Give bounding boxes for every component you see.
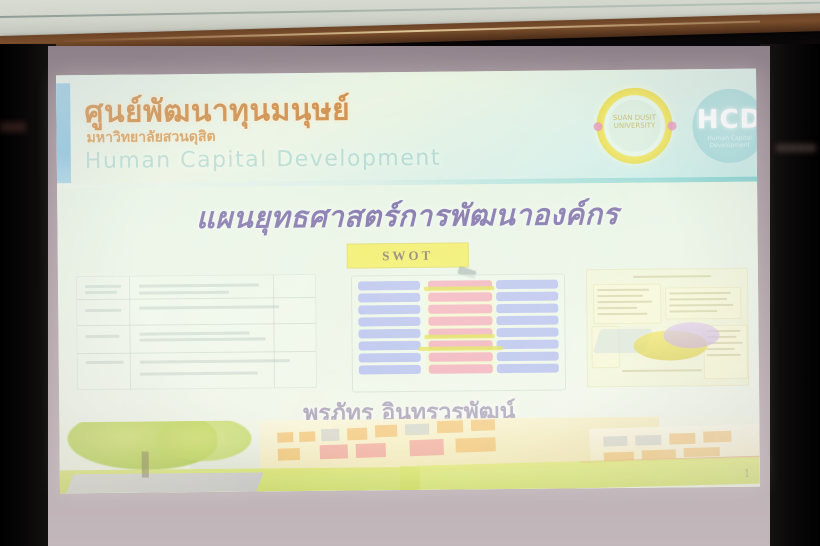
photo-of-projected-slide: ศูนย์พัฒนาทุนมนุษย์ มหาวิทยาลัยสวนดุสิต … (0, 0, 820, 546)
photo-walkway (66, 472, 263, 493)
header-accent-bar (56, 83, 71, 183)
matrix-cell (496, 316, 558, 326)
matrix-cell (497, 364, 559, 374)
matrix-cell (358, 293, 420, 303)
header-english-ghost-text: Human Capital Development (85, 146, 441, 174)
matrix-cell (359, 365, 421, 375)
left-table-diagram (76, 274, 317, 390)
header-subtitle-thai: มหาวิทยาลัยสวนดุสิต (87, 126, 216, 149)
matrix-cell (428, 292, 492, 302)
presentation-slide: ศูนย์พัฒนาทุนมนุษย์ มหาวิทยาลัยสวนดุสิต … (56, 69, 760, 494)
matrix-highlight-bar (424, 286, 494, 291)
matrix-cell (358, 281, 420, 291)
hcd-logo-text: HCD (692, 105, 760, 136)
matrix-highlight-bar (425, 334, 495, 339)
matrix-highlight-bar (419, 346, 503, 351)
university-seal-label: SUAN DUSIT UNIVERSITY (596, 113, 672, 130)
matrix-cell (429, 352, 493, 362)
matrix-cell (496, 292, 558, 302)
matrix-column-left (358, 281, 421, 375)
photo-tree-trunk (142, 451, 149, 477)
strategy-matrix-diagram (351, 273, 566, 392)
matrix-cell (358, 317, 420, 327)
matrix-column-center (426, 280, 495, 374)
matrix-cell (497, 352, 559, 362)
slide-body: แผนยุทธศาสตร์การพัฒนาองค์กร (57, 182, 760, 494)
matrix-cell (359, 341, 421, 351)
matrix-cell (496, 328, 558, 338)
matrix-cell (428, 316, 492, 326)
hcd-logo-caption: Human Capital Development (693, 135, 760, 150)
matrix-cell (358, 305, 420, 315)
matrix-cell (428, 304, 492, 314)
matrix-cell (496, 280, 558, 290)
matrix-cell (429, 364, 493, 374)
matrix-cell (496, 304, 558, 314)
swot-label-box: SWOT (347, 242, 469, 268)
campus-photo-strip (59, 416, 760, 494)
matrix-cell (359, 353, 421, 363)
slide-number: 1 (744, 466, 750, 481)
slide-title: แผนยุทธศาสตร์การพัฒนาองค์กร (57, 190, 757, 243)
matrix-cell (497, 340, 559, 350)
matrix-cell (358, 329, 420, 339)
matrix-column-right (496, 280, 559, 374)
